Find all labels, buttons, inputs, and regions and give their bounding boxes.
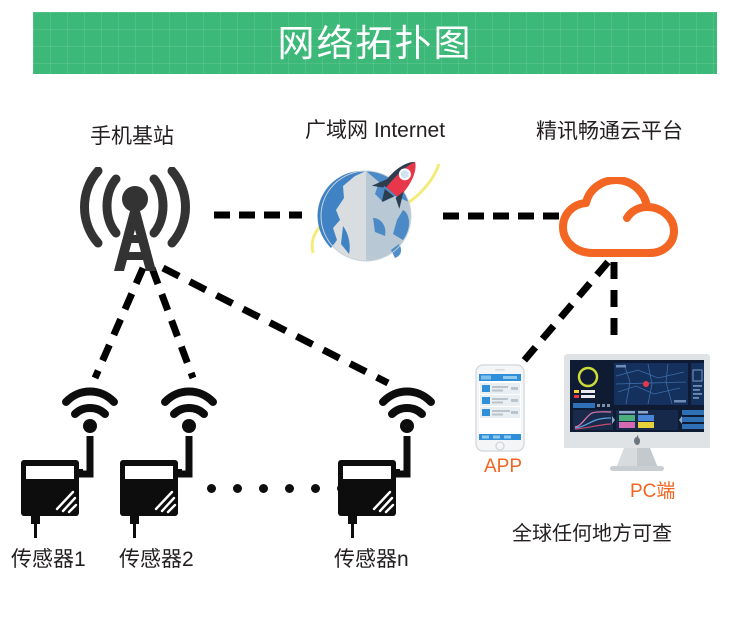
ellipsis-dot	[311, 484, 320, 493]
cell-tower-icon	[72, 167, 198, 277]
sensor-1-stem	[30, 516, 42, 538]
label-sensor-n: 传感器n	[334, 549, 409, 570]
sensor-device-icon-2	[112, 376, 222, 516]
diagram-canvas: 网络拓扑图 手机基站 广域网 Internet 精讯畅通云平台	[0, 0, 750, 619]
sensor-2-stem	[129, 516, 141, 538]
ellipsis-dot	[259, 484, 268, 493]
label-pc: PC端	[630, 482, 675, 501]
label-sensor-1: 传感器1	[11, 549, 86, 570]
ellipsis-dot	[207, 484, 216, 493]
imac-monitor-icon	[562, 352, 712, 476]
globe-rocket-icon	[303, 148, 453, 266]
cloud-icon	[557, 177, 681, 259]
ellipsis-dots	[207, 484, 346, 493]
footer-note: 全球任何地方可查	[512, 524, 672, 544]
ellipsis-dot	[233, 484, 242, 493]
sensor-device-icon-1	[13, 376, 123, 516]
sensor-device-icon-n	[330, 376, 440, 516]
smartphone-icon	[475, 364, 525, 452]
label-app: APP	[484, 457, 522, 476]
sensor-n-stem	[347, 516, 359, 538]
ellipsis-dot	[337, 484, 346, 493]
label-sensor-2: 传感器2	[119, 549, 194, 570]
ellipsis-dot	[285, 484, 294, 493]
